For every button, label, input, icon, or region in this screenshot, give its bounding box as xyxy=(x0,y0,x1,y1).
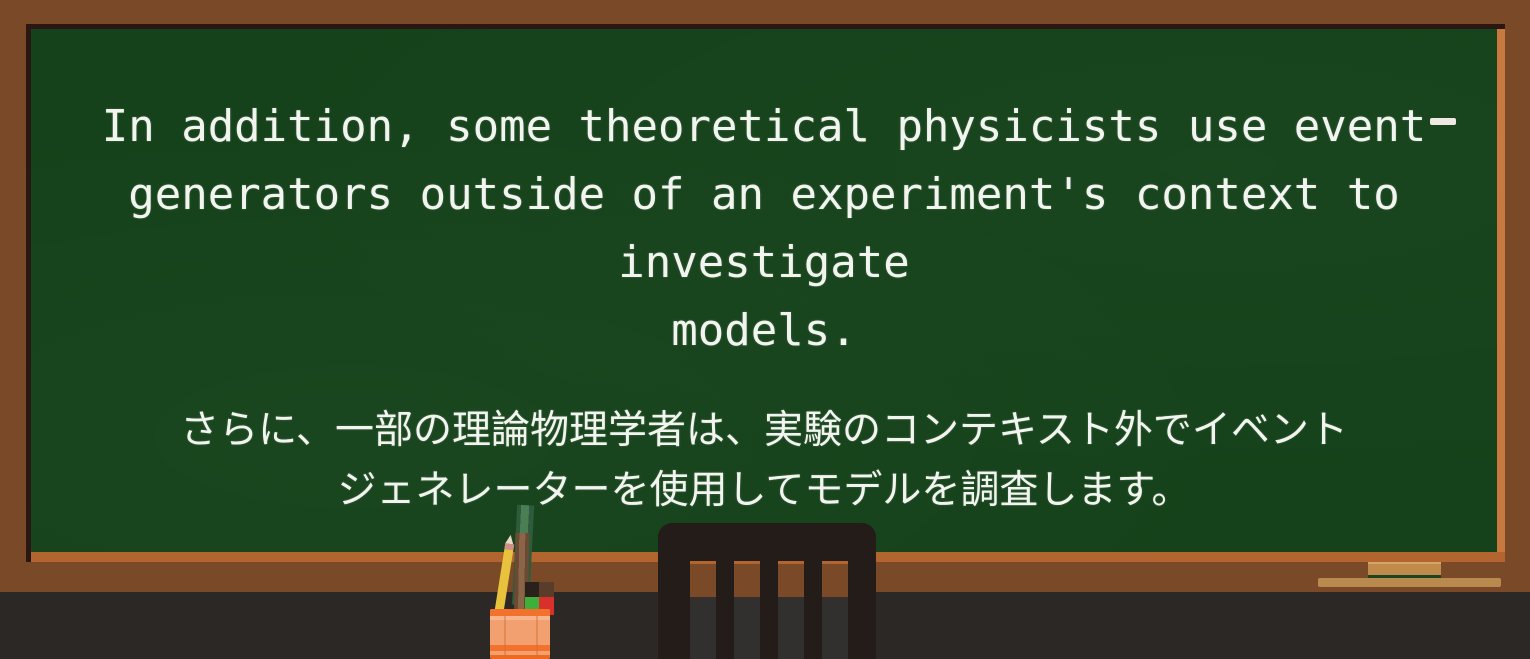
text-spacer xyxy=(35,365,1493,401)
tray-lip xyxy=(1318,578,1501,587)
chalkboard-scene: In addition, some theoretical physicists… xyxy=(0,0,1530,659)
chair-slat xyxy=(778,561,804,659)
chair-slat-top xyxy=(734,561,760,597)
english-sentence: In addition, some theoretical physicists… xyxy=(35,93,1493,365)
cup-stripe xyxy=(490,616,550,620)
chair-slat-top xyxy=(778,561,804,597)
desk-supplies xyxy=(484,505,556,659)
cup-seam xyxy=(536,616,538,659)
chair-slat xyxy=(690,561,716,659)
chair-slat xyxy=(822,561,848,659)
cup-stripe xyxy=(490,645,550,651)
marker-cap xyxy=(525,582,540,597)
chair-slat xyxy=(734,561,760,659)
marker-cap xyxy=(539,582,554,597)
pencil-band xyxy=(504,543,514,550)
cup-rim xyxy=(490,609,550,616)
japanese-sentence: さらに、一部の理論物理学者は、実験のコンテキスト外でイベント ジェネレーターを使… xyxy=(35,401,1493,521)
chair-slat-top xyxy=(690,561,716,597)
chair-slat-top xyxy=(822,561,848,597)
pencil-icon xyxy=(494,543,514,616)
cup-seam xyxy=(504,616,506,659)
chair xyxy=(658,523,876,659)
board-eraser-icon xyxy=(1368,562,1441,579)
chalkboard-text-block: In addition, some theoretical physicists… xyxy=(31,29,1497,552)
eraser-body xyxy=(1368,562,1441,575)
pencil-cup xyxy=(490,609,550,659)
cup-stripe xyxy=(490,655,550,659)
